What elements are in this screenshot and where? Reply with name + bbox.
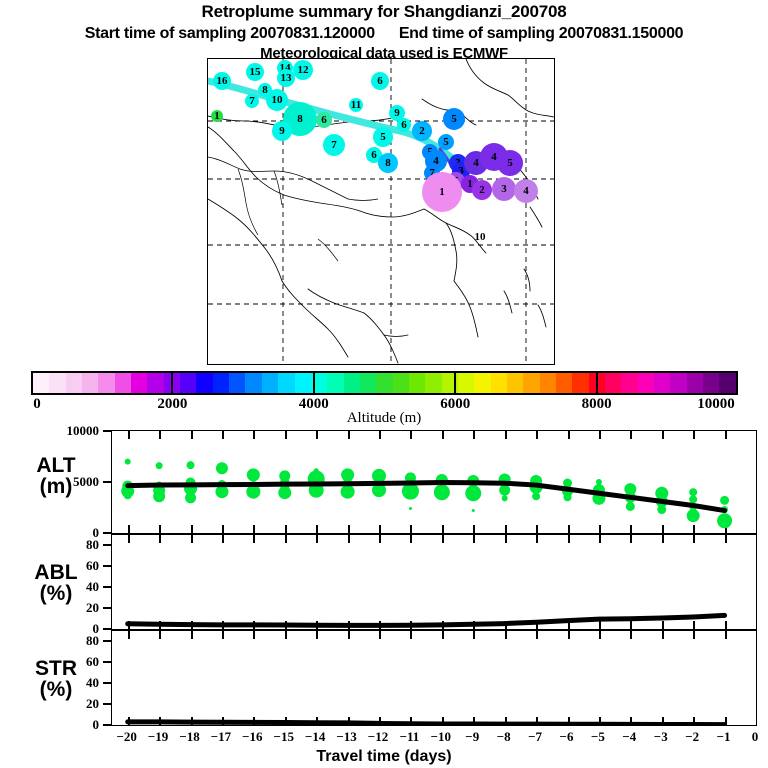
alt-scatter-point xyxy=(278,486,291,499)
alt-scatter-point xyxy=(502,495,508,501)
alt-scatter-point xyxy=(687,509,700,522)
colorbar-swatch xyxy=(572,373,588,393)
alt-scatter-point xyxy=(409,507,412,510)
plume-blob xyxy=(213,72,231,90)
alt-scatter-point xyxy=(532,492,540,500)
colorbar-swatch xyxy=(621,373,637,393)
y-axis-tick-label: 20 xyxy=(30,696,99,712)
abl-panel xyxy=(111,534,757,630)
colorbar-swatch xyxy=(33,373,49,393)
colorbar-swatch xyxy=(540,373,556,393)
colorbar-swatch xyxy=(376,373,392,393)
x-axis-tick-label: 0 xyxy=(752,729,759,745)
x-axis-tick-label: −5 xyxy=(591,729,605,745)
y-axis-tick xyxy=(103,586,111,588)
alt-scatter-point xyxy=(247,468,260,481)
colorbar-swatch xyxy=(409,373,425,393)
y-axis-tick-label: 40 xyxy=(30,579,99,595)
colorbar-swatch xyxy=(703,373,719,393)
colorbar-swatch xyxy=(49,373,65,393)
alt-scatter-point xyxy=(434,484,450,500)
alt-scatter-point xyxy=(472,509,475,512)
y-axis-tick xyxy=(103,607,111,609)
start-time-label: Start time of sampling 20070831.120000 xyxy=(85,25,375,42)
y-axis-tick xyxy=(103,544,111,546)
plume-blob xyxy=(422,172,462,212)
plume-blob xyxy=(349,98,363,112)
x-axis-tick-label: −9 xyxy=(465,729,479,745)
y-axis-tick-label: 20 xyxy=(30,600,99,616)
alt-scatter-point xyxy=(626,502,635,511)
y-axis-tick xyxy=(103,724,111,726)
x-axis-tick-label: −8 xyxy=(497,729,511,745)
colorbar-swatch xyxy=(458,373,474,393)
plume-blob xyxy=(397,118,411,132)
colorbar-swatch xyxy=(491,373,507,393)
plume-blob xyxy=(272,121,292,141)
alt-panel xyxy=(111,430,757,534)
colorbar-swatch xyxy=(131,373,147,393)
colorbar-swatch xyxy=(474,373,490,393)
y-axis-tick xyxy=(103,640,111,642)
x-axis-tick-label: −15 xyxy=(274,729,294,745)
colorbar-swatch xyxy=(278,373,294,393)
plume-blob xyxy=(514,179,538,203)
colorbar-swatch xyxy=(180,373,196,393)
y-axis-tick xyxy=(103,703,111,705)
colorbar-swatch xyxy=(147,373,163,393)
x-axis-tick-label: −12 xyxy=(368,729,388,745)
end-time-label: End time of sampling 20070831.150000 xyxy=(399,25,683,42)
y-axis-tick-label: 80 xyxy=(30,537,99,553)
alt-scatter-point xyxy=(657,505,666,514)
plume-blob xyxy=(246,63,264,81)
y-axis-tick-label: 0 xyxy=(30,717,99,733)
colorbar-swatch xyxy=(393,373,409,393)
plume-blob xyxy=(443,108,465,130)
y-axis-tick-label: 60 xyxy=(30,558,99,574)
y-axis-tick xyxy=(103,481,111,483)
abl-line xyxy=(128,615,725,625)
colorbar-division xyxy=(313,371,315,395)
alt-scatter-point xyxy=(499,485,510,496)
alt-scatter-point xyxy=(125,459,131,465)
str-panel xyxy=(111,630,757,726)
retroplume-map: 1615141213871061191869756862555473344551… xyxy=(207,58,555,365)
alt-scatter-point xyxy=(372,469,386,483)
y-axis-tick xyxy=(103,430,111,432)
alt-scatter-point xyxy=(689,495,697,503)
y-axis-tick xyxy=(103,565,111,567)
alt-scatter-point xyxy=(717,513,732,528)
colorbar-swatch xyxy=(360,373,376,393)
x-axis-tick-label: −1 xyxy=(717,729,731,745)
colorbar-swatch xyxy=(638,373,654,393)
y-axis-tick xyxy=(103,628,111,630)
alt-scatter-point xyxy=(185,492,196,503)
plume-blob xyxy=(293,60,313,80)
colorbar-swatch xyxy=(507,373,523,393)
colorbar-swatch xyxy=(196,373,212,393)
x-axis-tick-label: −2 xyxy=(685,729,699,745)
plume-blob xyxy=(472,180,492,200)
y-axis-tick-label: 60 xyxy=(30,654,99,670)
colorbar-swatch xyxy=(670,373,686,393)
plume-blob xyxy=(323,134,345,156)
plume-blob xyxy=(492,177,516,201)
colorbar-swatch xyxy=(425,373,441,393)
x-axis-title: Travel time (days) xyxy=(0,748,768,766)
colorbar-axis-title: Altitude (m) xyxy=(0,410,768,427)
colorbar-swatch xyxy=(213,373,229,393)
alt-scatter-point xyxy=(216,462,228,474)
alt-scatter-point xyxy=(720,496,729,505)
alt-scatter-point xyxy=(156,462,163,469)
colorbar-swatch xyxy=(327,373,343,393)
sampling-time-line: Start time of sampling 20070831.120000En… xyxy=(0,25,768,43)
alt-scatter-point xyxy=(153,490,165,502)
plume-blob xyxy=(211,110,223,122)
alt-series xyxy=(112,431,756,533)
x-axis-tick-label: −19 xyxy=(148,729,168,745)
map-coastlines xyxy=(208,59,554,364)
x-axis-tick-label: −6 xyxy=(560,729,574,745)
alt-scatter-point xyxy=(124,491,132,499)
alt-scatter-point xyxy=(564,493,572,501)
y-axis-tick xyxy=(103,682,111,684)
colorbar-swatch xyxy=(245,373,261,393)
colorbar-swatch xyxy=(654,373,670,393)
y-axis-tick xyxy=(103,532,111,534)
colorbar-division xyxy=(171,371,173,395)
plume-blob xyxy=(378,153,398,173)
plume-blob xyxy=(316,112,332,128)
plume-blob xyxy=(373,127,393,147)
plume-blob xyxy=(371,72,389,90)
colorbar-swatch xyxy=(556,373,572,393)
altitude-colorbar xyxy=(31,371,738,395)
colorbar-swatch xyxy=(66,373,82,393)
x-axis-tick-label: −16 xyxy=(242,729,262,745)
plume-blob xyxy=(266,89,288,111)
x-axis-tick-label: −4 xyxy=(622,729,636,745)
plume-blob xyxy=(438,134,454,150)
alt-scatter-point xyxy=(341,485,355,499)
x-axis-tick-label: −20 xyxy=(116,729,136,745)
plume-blob xyxy=(497,150,523,176)
alt-scatter-point xyxy=(465,485,481,501)
y-axis-tick-label: 40 xyxy=(30,675,99,691)
str-line xyxy=(128,722,725,725)
plume-blob xyxy=(245,94,259,108)
x-axis-tick-label: −14 xyxy=(305,729,325,745)
colorbar-swatch xyxy=(82,373,98,393)
colorbar-swatch xyxy=(523,373,539,393)
y-axis-tick xyxy=(103,661,111,663)
x-axis-tick-label: −17 xyxy=(211,729,231,745)
y-axis-tick-label: 80 xyxy=(30,633,99,649)
colorbar-swatch xyxy=(719,373,735,393)
str-series xyxy=(112,631,756,725)
page-title: Retroplume summary for Shangdianzi_20070… xyxy=(0,2,768,22)
x-axis-tick-label: −18 xyxy=(179,729,199,745)
y-axis-tick-label: 10000 xyxy=(30,423,99,439)
x-axis-tick-label: −3 xyxy=(654,729,668,745)
alt-scatter-point xyxy=(187,461,195,469)
colorbar-swatch xyxy=(115,373,131,393)
x-axis-tick-label: −13 xyxy=(336,729,356,745)
colorbar-swatch xyxy=(98,373,114,393)
colorbar-swatch xyxy=(262,373,278,393)
colorbar-swatch xyxy=(344,373,360,393)
x-axis-tick-label: −7 xyxy=(528,729,542,745)
colorbar-swatch xyxy=(605,373,621,393)
colorbar-division xyxy=(596,371,598,395)
alt-scatter-point xyxy=(596,479,602,485)
plume-blob xyxy=(277,69,295,87)
colorbar-division xyxy=(454,371,456,395)
x-axis-tick-label: −11 xyxy=(400,729,420,745)
abl-series xyxy=(112,535,756,629)
alt-scatter-point xyxy=(689,488,697,496)
retroplume-figure: Retroplume summary for Shangdianzi_20070… xyxy=(0,0,768,768)
x-axis-tick-label: −10 xyxy=(431,729,451,745)
y-axis-tick-label: 5000 xyxy=(30,474,99,490)
plume-blob xyxy=(412,121,432,141)
colorbar-swatch xyxy=(229,373,245,393)
colorbar-swatch xyxy=(295,373,311,393)
colorbar-swatch xyxy=(687,373,703,393)
